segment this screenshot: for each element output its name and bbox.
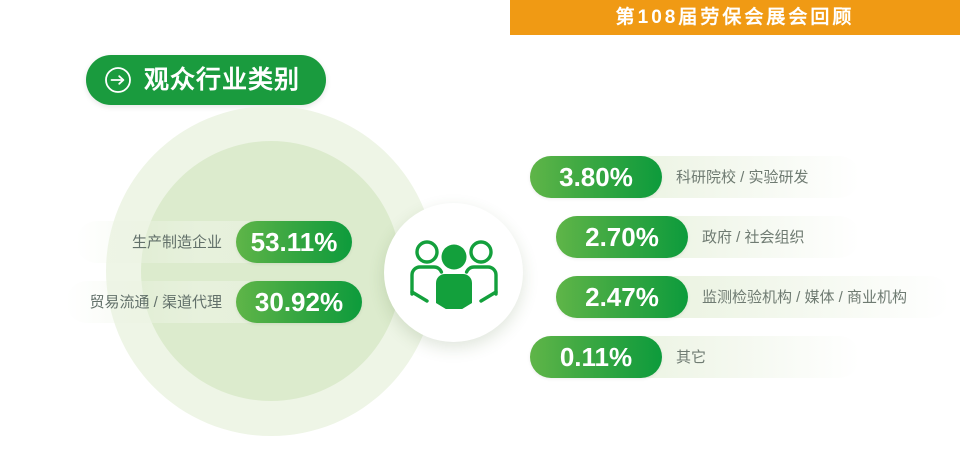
value-pill: 0.11% — [530, 336, 662, 378]
section-title-text: 观众行业类别 — [144, 68, 300, 93]
value-text: 2.70% — [585, 224, 659, 250]
value-text: 53.11% — [251, 229, 338, 255]
category-label: 贸易流通 / 渠道代理 — [89, 295, 222, 310]
value-pill: 2.70% — [556, 216, 688, 258]
header-banner: 第108届劳保会展会回顾 — [510, 0, 960, 35]
value-pill: 53.11% — [236, 221, 352, 263]
category-label: 生产制造企业 — [132, 235, 222, 250]
data-row-left-2: 贸易流通 / 渠道代理 30.92% — [66, 281, 362, 323]
value-text: 30.92% — [255, 289, 343, 315]
arrow-right-circle-icon — [104, 66, 132, 94]
data-row-left-1: 生产制造企业 53.11% — [76, 221, 352, 263]
value-pill: 2.47% — [556, 276, 688, 318]
center-circle — [384, 203, 523, 342]
section-title-pill: 观众行业类别 — [86, 55, 326, 105]
header-banner-title: 第108届劳保会展会回顾 — [616, 8, 855, 27]
value-pill: 30.92% — [236, 281, 362, 323]
inner-ring — [141, 141, 401, 401]
value-text: 3.80% — [559, 164, 633, 190]
category-label: 其它 — [676, 350, 706, 365]
data-row-right-4: 0.11% 其它 — [530, 336, 860, 378]
value-pill: 3.80% — [530, 156, 662, 198]
people-group-icon — [410, 237, 498, 309]
data-row-right-3: 2.47% 监测检验机构 / 媒体 / 商业机构 — [556, 276, 950, 318]
data-row-right-2: 2.70% 政府 / 社会组织 — [556, 216, 860, 258]
value-text: 0.11% — [560, 344, 632, 370]
value-text: 2.47% — [585, 284, 659, 310]
infographic-canvas: 第108届劳保会展会回顾 观众行业类别 — [0, 0, 960, 452]
category-label: 监测检验机构 / 媒体 / 商业机构 — [702, 290, 907, 305]
category-label: 政府 / 社会组织 — [702, 230, 805, 245]
category-label: 科研院校 / 实验研发 — [676, 170, 809, 185]
data-row-right-1: 3.80% 科研院校 / 实验研发 — [530, 156, 860, 198]
